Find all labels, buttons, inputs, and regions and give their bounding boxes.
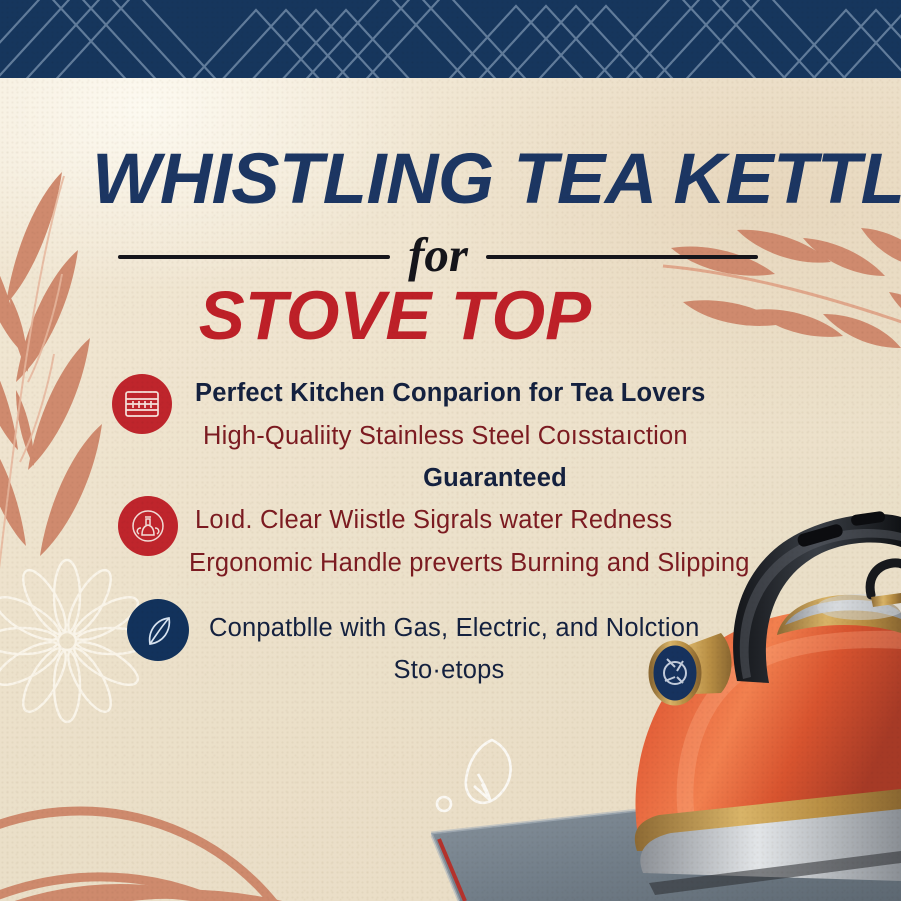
poster-canvas: WHISTLING TEA KETTLE for STOVE TOP Perfe… [0,0,901,901]
chevron-pattern-banner [0,0,901,78]
slate-board [431,741,901,901]
leaf-outline-icon [138,610,178,650]
feature-line: Perfect Kitchen Conparion for Tea Lovers [195,372,901,414]
feature-badge [127,599,189,661]
divider-right [486,255,758,259]
stovetop-grid-icon [124,389,160,419]
feature-line: Conpatblle with Gas, Electric, and Nolct… [209,607,901,649]
feature-line: Guaranteed [195,458,795,498]
connector-word: for [404,230,472,279]
feature-line: Ergonomic Handle preverts Burning and Sl… [189,542,901,585]
feature-line: High-Qualiity Stainless Steel Coısstaıct… [203,414,901,458]
divider-left [118,255,390,259]
feature-list: Perfect Kitchen Conparion for Tea Lovers… [112,372,901,691]
feature-item: Conpatblle with Gas, Electric, and Nolct… [127,597,901,691]
feature-item: Loıd. Clear Wiistle Sigrals water Rednes… [118,494,901,585]
teardrop-watermark [430,728,540,828]
feature-line: Sto·etops [209,649,689,691]
kettle-badge-icon [128,506,168,546]
page-subtitle: STOVE TOP [0,276,790,355]
chevron-pattern-icon [0,0,901,78]
feature-badge [112,374,172,434]
feature-line: Loıd. Clear Wiistle Sigrals water Rednes… [195,498,901,542]
feature-item: Perfect Kitchen Conparion for Tea Lovers… [112,372,901,498]
page-title: WHISTLING TEA KETTLE [92,139,901,220]
feature-badge [118,496,178,556]
